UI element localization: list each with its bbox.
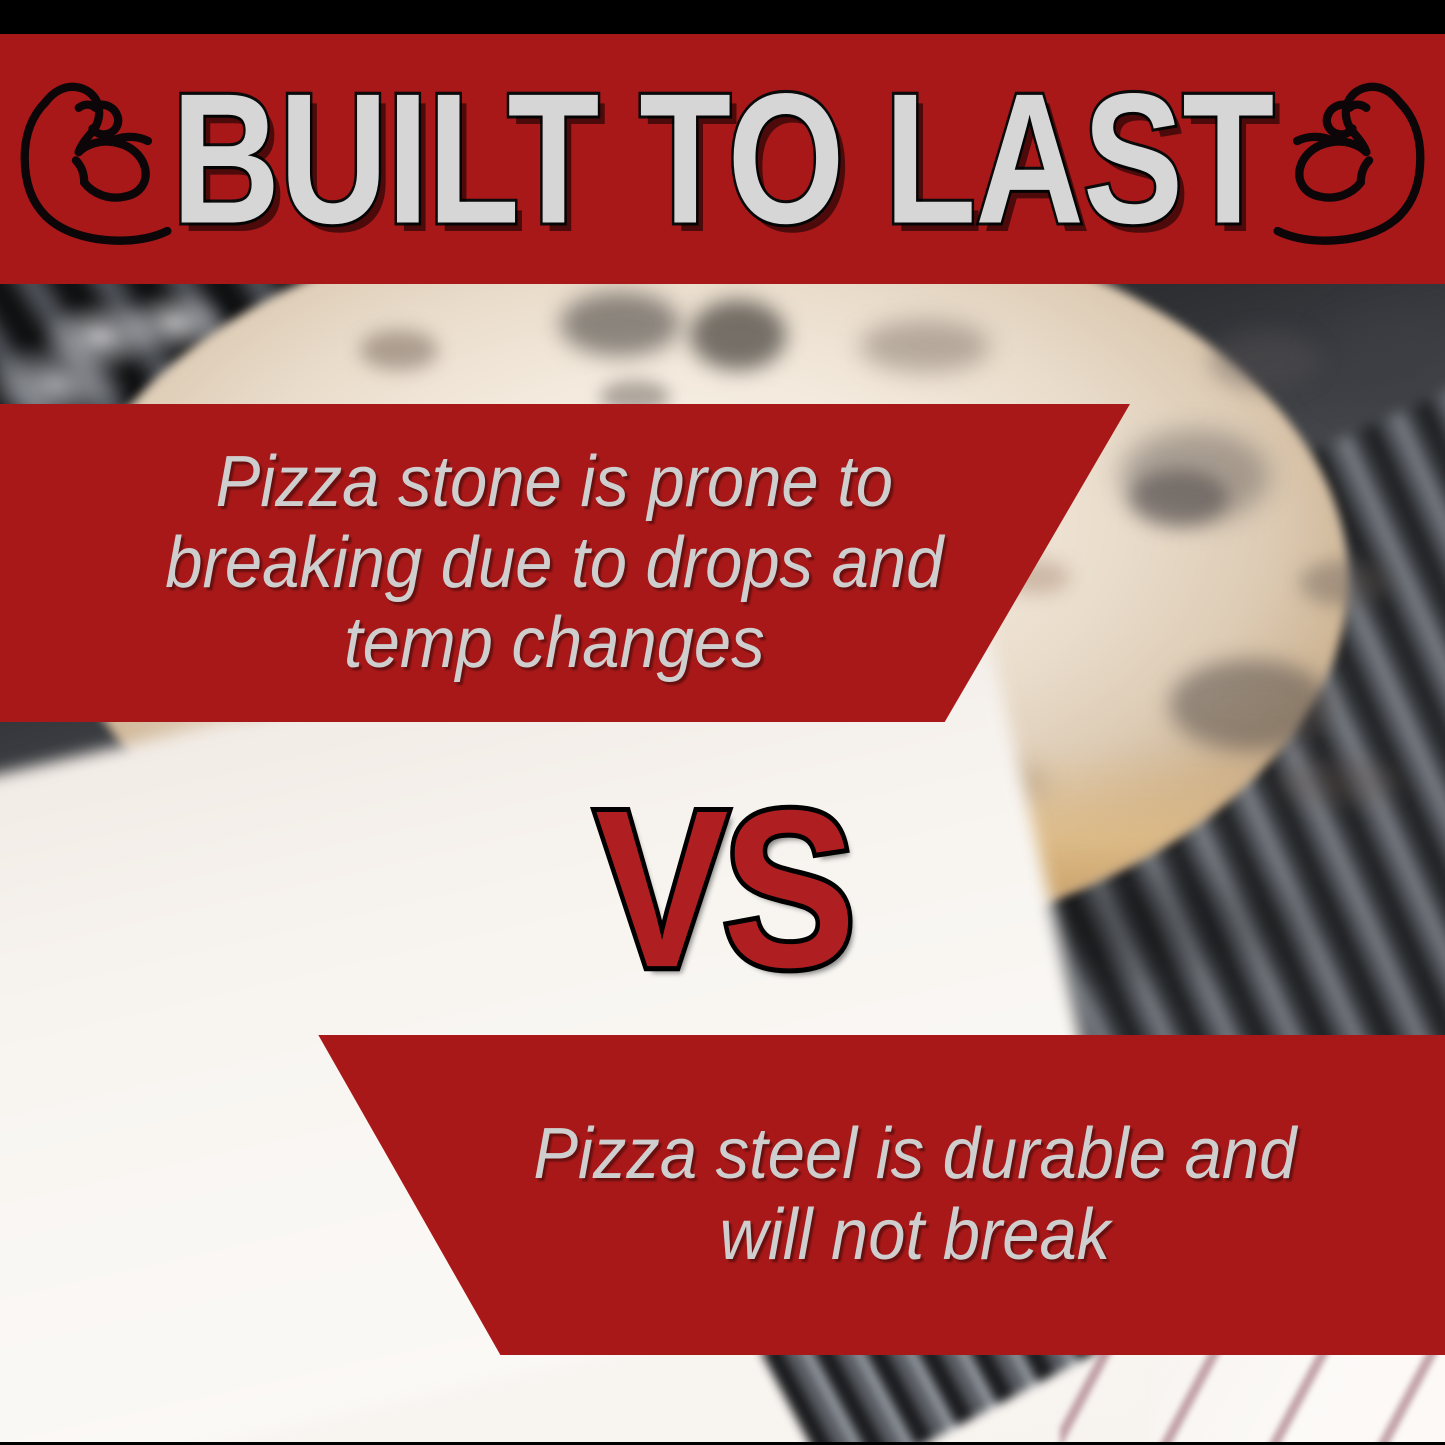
char-spot <box>860 320 990 372</box>
page-title: BUILT TO LAST <box>172 66 1274 251</box>
versus-label: VS <box>0 778 1445 1002</box>
flexed-bicep-icon <box>2 69 172 249</box>
callout-pizza-stone-text: Pizza stone is prone to breaking due to … <box>130 442 1000 684</box>
infographic-canvas: BUILT TO LAST Pizza stone is prone to br… <box>0 0 1445 1445</box>
char-spot <box>560 292 680 356</box>
char-spot <box>1210 330 1320 390</box>
callout-pizza-steel-text: Pizza steel is durable and will not brea… <box>403 1114 1342 1275</box>
flexed-bicep-icon <box>1273 69 1443 249</box>
header-banner: BUILT TO LAST <box>0 34 1445 284</box>
char-spot <box>1300 560 1390 606</box>
char-spot <box>1130 470 1228 526</box>
callout-pizza-stone: Pizza stone is prone to breaking due to … <box>0 404 1130 722</box>
char-spot <box>360 330 438 370</box>
top-black-bar <box>0 0 1445 34</box>
char-spot <box>690 300 786 370</box>
char-spot <box>1170 660 1330 750</box>
